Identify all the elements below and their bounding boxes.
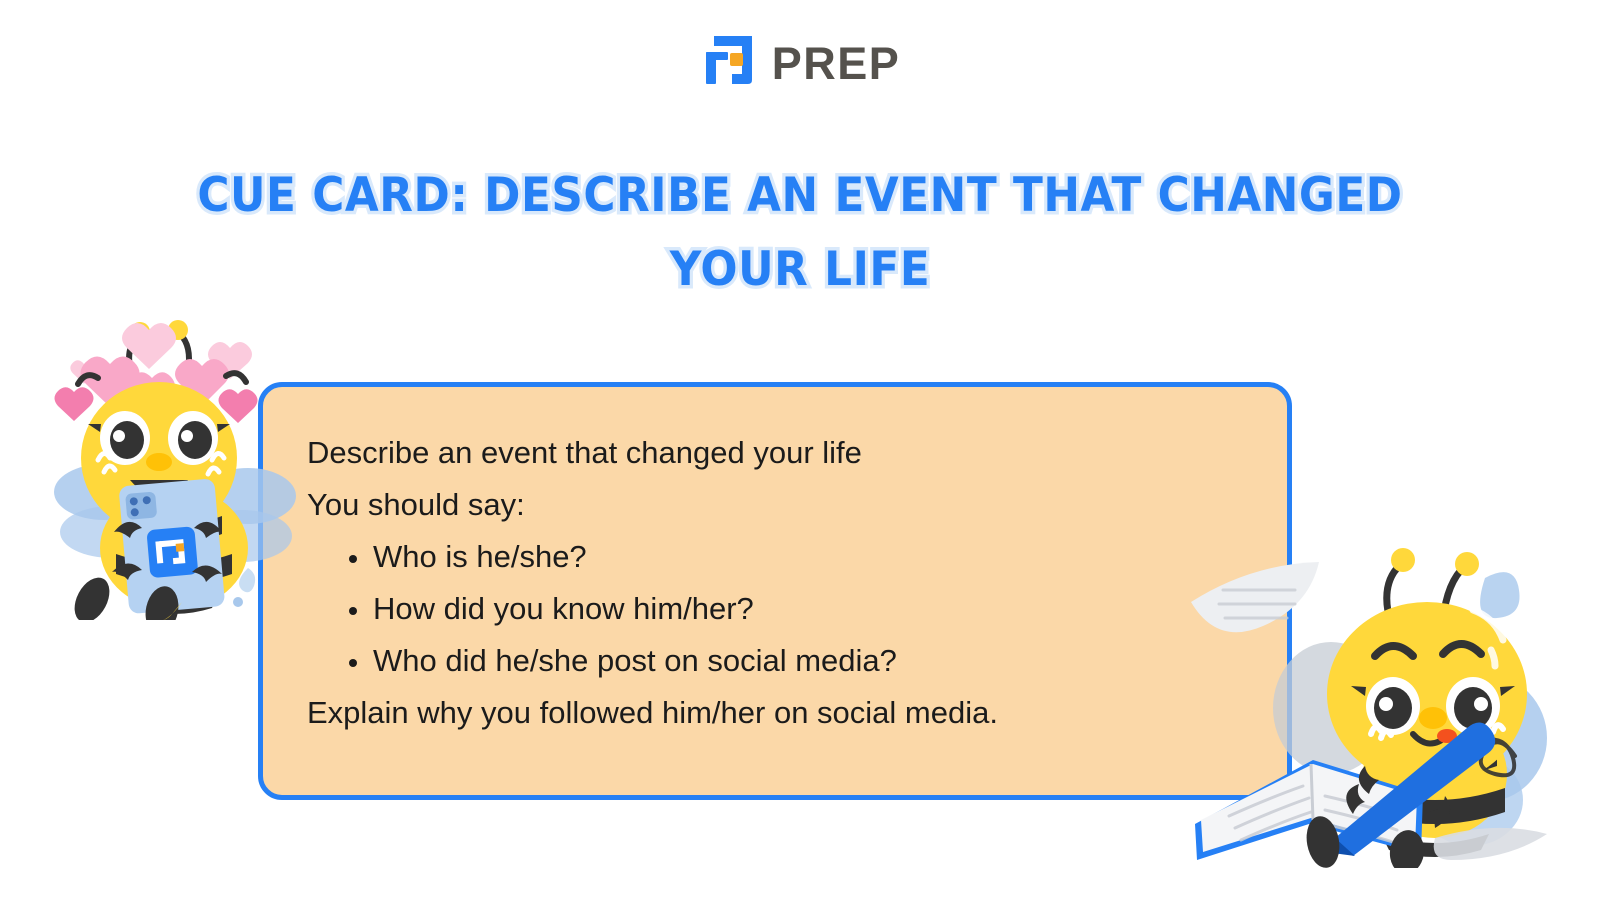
list-item: Who is he/she? (373, 531, 1257, 583)
list-item: How did you know him/her? (373, 583, 1257, 635)
cue-card-content: Describe an event that changed your life… (307, 427, 1257, 739)
list-item: Who did he/she post on social media? (373, 635, 1257, 687)
cue-card-prompt: Describe an event that changed your life (307, 427, 1257, 479)
prep-logo-mark-icon (700, 34, 758, 92)
bee-with-phone-illustration (52, 310, 302, 620)
page-title: CUE CARD: DESCRIBE AN EVENT THAT CHANGED… (140, 159, 1461, 307)
cue-card-closing: Explain why you followed him/her on soci… (307, 687, 1257, 739)
cue-card-bullet-list: Who is he/she? How did you know him/her?… (307, 531, 1257, 687)
cue-card-instruction: You should say: (307, 479, 1257, 531)
bee-writing-in-book-illustration (1185, 538, 1575, 868)
cue-card-panel: Describe an event that changed your life… (258, 382, 1292, 800)
brand-logo: PREP (0, 28, 1600, 98)
brand-wordmark: PREP (772, 41, 901, 86)
